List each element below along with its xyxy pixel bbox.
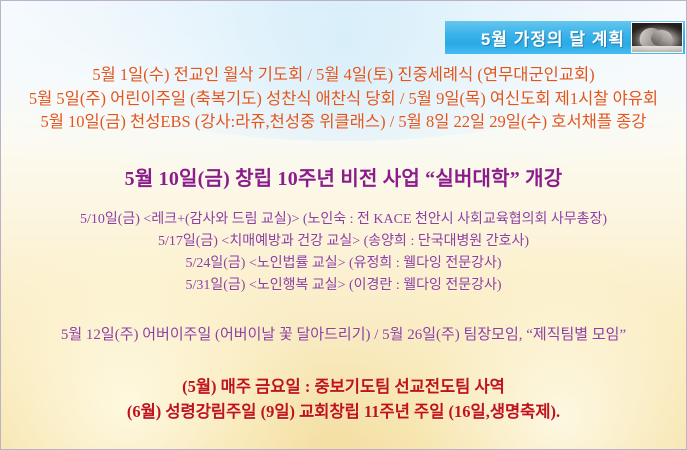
schedule-list: 5월 1일(수) 전교인 월삭 기도회 / 5월 4일(토) 진중세례식 (연무… bbox=[1, 67, 686, 138]
course-line: 5/10일(금) <레크+(감사와 드림 교실)> (노인숙 : 전 KACE … bbox=[1, 213, 686, 227]
parents-day-line: 5월 12일(주) 어버이주일 (어버이날 꽃 달아드리기) / 5월 26일(… bbox=[1, 328, 686, 343]
footer-line: (5월) 매주 금요일 : 중보기도팀 선교전도팀 사역 bbox=[1, 379, 686, 396]
silver-college-heading: 5월 10일(금) 창립 10주년 비전 사업 “실버대학” 개강 bbox=[1, 169, 686, 189]
praying-hands-photo bbox=[631, 22, 683, 53]
footer-notices: (5월) 매주 금요일 : 중보기도팀 선교전도팀 사역 (6월) 성령강림주일… bbox=[1, 379, 686, 428]
schedule-line: 5월 5일(주) 어린이주일 (축복기도) 성찬식 애찬식 당회 / 5월 9일… bbox=[1, 91, 686, 108]
heading-text: 5월 10일(금) 창립 10주년 비전 사업 “실버대학” 개강 bbox=[1, 169, 686, 189]
announcement-slide: 5월 가정의 달 계획 5월 1일(수) 전교인 월삭 기도회 / 5월 4일(… bbox=[0, 0, 687, 450]
photo-foreground-shape bbox=[632, 46, 682, 52]
header-banner: 5월 가정의 달 계획 bbox=[445, 21, 685, 54]
schedule-line: 5월 1일(수) 전교인 월삭 기도회 / 5월 4일(토) 진중세례식 (연무… bbox=[1, 67, 686, 84]
schedule-line: 5월 10일(금) 천성EBS (강사:라쥬,천성중 위클래스) / 5월 8일… bbox=[1, 114, 686, 131]
banner-title: 5월 가정의 달 계획 bbox=[481, 25, 625, 50]
course-line: 5/24일(금) <노인법률 교실> (유정희 : 웰다잉 전문강사) bbox=[1, 257, 686, 271]
course-list: 5/10일(금) <레크+(감사와 드림 교실)> (노인숙 : 전 KACE … bbox=[1, 213, 686, 301]
course-line: 5/17일(금) <치매예방과 건강 교실> (송양희 : 단국대병원 간호사) bbox=[1, 235, 686, 249]
footer-line: (6월) 성령강림주일 (9일) 교회창립 11주년 주일 (16일,생명축제)… bbox=[1, 404, 686, 421]
course-line: 5/31일(금) <노인행복 교실> (이경란 : 웰다잉 전문강사) bbox=[1, 279, 686, 293]
parents-day-text: 5월 12일(주) 어버이주일 (어버이날 꽃 달아드리기) / 5월 26일(… bbox=[1, 328, 686, 343]
